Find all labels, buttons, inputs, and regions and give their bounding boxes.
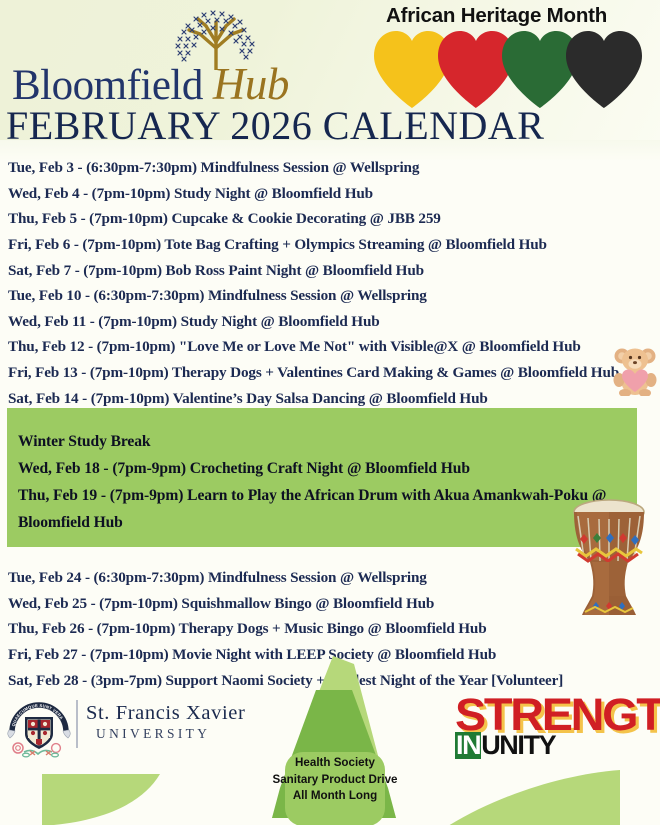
health-drive-text: Health Society Sanitary Product Drive Al…: [250, 755, 420, 805]
winter-study-break-heading: Winter Study Break: [18, 428, 638, 455]
african-heritage-hearts: [372, 28, 644, 110]
event-line: Thu, Feb 12 - (7pm-10pm) "Love Me or Lov…: [8, 334, 656, 360]
health-drive-line2: Sanitary Product Drive: [250, 772, 420, 789]
stfx-crest-icon: QUAECUMQUE SUNT VERA: [6, 698, 72, 764]
event-line: Tue, Feb 24 - (6:30pm-7:30pm) Mindfulnes…: [8, 565, 656, 591]
teddy-bear-icon: [612, 344, 658, 396]
health-drive-line1: Health Society: [250, 755, 420, 772]
event-line: Sat, Feb 7 - (7pm-10pm) Bob Ross Paint N…: [8, 258, 656, 284]
event-line: Thu, Feb 5 - (7pm-10pm) Cupcake & Cookie…: [8, 206, 656, 232]
page-title: FEBRUARY 2026 CALENDAR: [6, 102, 544, 149]
heart-red: [438, 31, 514, 108]
event-line: Tue, Feb 3 - (6:30pm-7:30pm) Mindfulness…: [8, 155, 656, 181]
heart-green: [502, 31, 578, 108]
african-heritage-month-title: African Heritage Month: [386, 4, 607, 28]
event-line: Wed, Feb 25 - (7pm-10pm) Squishmallow Bi…: [8, 591, 656, 617]
event-line: Wed, Feb 18 - (7pm-9pm) Crocheting Craft…: [18, 455, 638, 482]
calendar-poster: BloomfieldHub African Heritage Month FEB…: [0, 0, 660, 825]
siu-in-word: IN: [455, 732, 481, 759]
week2-events: Tue, Feb 10 - (6:30pm-7:30pm) Mindfulnes…: [8, 283, 656, 412]
siu-unity-word: UNITY: [481, 730, 555, 760]
bloomfield-hub-logo: BloomfieldHub: [8, 6, 348, 111]
health-drive-line3: All Month Long: [250, 788, 420, 805]
week1-events: Tue, Feb 3 - (6:30pm-7:30pm) Mindfulness…: [8, 155, 656, 284]
stfx-subtitle: UNIVERSITY: [96, 726, 210, 742]
siu-second-row: INUNITY: [455, 732, 555, 759]
heart-black: [566, 31, 642, 108]
event-line: Tue, Feb 10 - (6:30pm-7:30pm) Mindfulnes…: [8, 283, 656, 309]
event-line: Fri, Feb 6 - (7pm-10pm) Tote Bag Craftin…: [8, 232, 656, 258]
winter-study-break-content: Winter Study Break Wed, Feb 18 - (7pm-9p…: [18, 428, 638, 536]
event-line: Thu, Feb 19 - (7pm-9pm) Learn to Play th…: [18, 482, 638, 536]
leaf-left-decoration: [42, 770, 212, 825]
stfx-name: St. Francis Xavier: [86, 702, 245, 725]
event-line: Fri, Feb 13 - (7pm-10pm) Therapy Dogs + …: [8, 360, 656, 386]
heart-yellow: [374, 31, 450, 108]
winter-study-break-block: Winter Study Break Wed, Feb 18 - (7pm-9p…: [7, 408, 637, 547]
stfx-divider: [76, 700, 78, 748]
strength-in-unity-logo: STRENGTH INUNITY: [455, 692, 645, 762]
event-line: Wed, Feb 4 - (7pm-10pm) Study Night @ Bl…: [8, 181, 656, 207]
event-line: Thu, Feb 26 - (7pm-10pm) Therapy Dogs + …: [8, 616, 656, 642]
event-line: Wed, Feb 11 - (7pm-10pm) Study Night @ B…: [8, 309, 656, 335]
leaf-right-decoration: [440, 768, 620, 825]
